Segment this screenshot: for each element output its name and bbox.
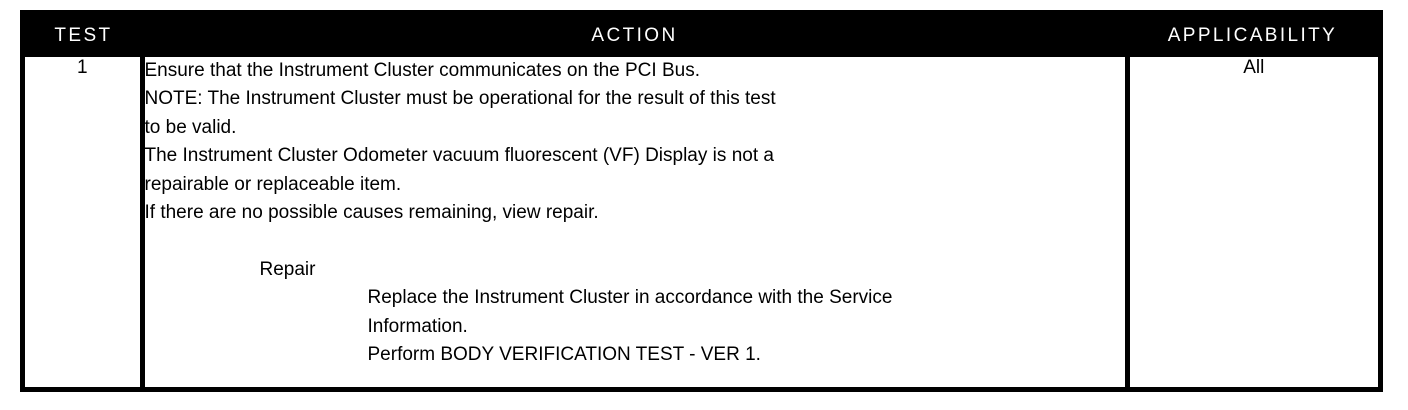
column-header-action: ACTION bbox=[142, 13, 1127, 58]
action-blank-line bbox=[145, 227, 1125, 255]
repair-verification-line: Perform BODY VERIFICATION TEST - VER 1. bbox=[368, 341, 1125, 369]
vf-word: The bbox=[145, 145, 178, 166]
vf-word: vacuum bbox=[433, 145, 500, 166]
repair-paragraph-line-1: Replace the Instrument Cluster in accord… bbox=[368, 284, 1125, 312]
vf-word: Cluster bbox=[278, 145, 338, 166]
repair-paragraph-line-2: Information. bbox=[368, 313, 1125, 341]
table-header-row: TEST ACTION APPLICABILITY bbox=[23, 13, 1381, 58]
table-row: 1 Ensure that the Instrument Cluster com… bbox=[23, 57, 1381, 390]
repair-word: Cluster bbox=[569, 287, 629, 308]
vf-word: Display bbox=[645, 145, 707, 166]
repair-heading: Repair bbox=[145, 256, 1125, 284]
repair-word: Replace bbox=[368, 287, 438, 308]
diagnostic-test-table: TEST ACTION APPLICABILITY 1 Ensure that … bbox=[20, 10, 1383, 392]
diagnostic-test-table-page: TEST ACTION APPLICABILITY 1 Ensure that … bbox=[0, 0, 1408, 410]
column-header-test: TEST bbox=[23, 13, 143, 58]
action-line-2-note: NOTE: The Instrument Cluster must be ope… bbox=[145, 85, 1125, 113]
table-header: TEST ACTION APPLICABILITY bbox=[23, 13, 1381, 58]
repair-word: the bbox=[797, 287, 823, 308]
table-body: 1 Ensure that the Instrument Cluster com… bbox=[23, 57, 1381, 390]
repair-word: in bbox=[635, 287, 650, 308]
vf-word: (VF) bbox=[603, 145, 640, 166]
action-vf-display-paragraph: The Instrument Cluster Odometer vacuum f… bbox=[145, 142, 1125, 199]
cell-test-number: 1 bbox=[23, 57, 143, 390]
repair-word: Instrument bbox=[474, 287, 564, 308]
vf-word: Odometer bbox=[343, 145, 427, 166]
action-line-1: Ensure that the Instrument Cluster commu… bbox=[145, 57, 1125, 85]
action-line-3-note-cont: to be valid. bbox=[145, 114, 1125, 142]
repair-item-block: Replace the Instrument Cluster in accord… bbox=[145, 284, 1125, 369]
repair-replace-paragraph: Replace the Instrument Cluster in accord… bbox=[368, 284, 1125, 341]
cell-applicability-value: All bbox=[1127, 57, 1381, 390]
repair-word: accordance bbox=[655, 287, 753, 308]
repair-word: with bbox=[758, 287, 792, 308]
column-header-applicability: APPLICABILITY bbox=[1127, 13, 1381, 58]
vf-word: not bbox=[732, 145, 758, 166]
repair-word: Service bbox=[829, 287, 892, 308]
vf-word: Instrument bbox=[183, 145, 273, 166]
action-line-view-repair: If there are no possible causes remainin… bbox=[145, 199, 1125, 227]
vf-word: a bbox=[763, 145, 774, 166]
vf-word: fluorescent bbox=[505, 145, 598, 166]
cell-action-content: Ensure that the Instrument Cluster commu… bbox=[142, 57, 1127, 390]
vf-paragraph-line-1: The Instrument Cluster Odometer vacuum f… bbox=[145, 142, 1125, 170]
repair-word: the bbox=[443, 287, 469, 308]
vf-word: is bbox=[713, 145, 727, 166]
vf-paragraph-line-2: repairable or replaceable item. bbox=[145, 171, 1125, 199]
